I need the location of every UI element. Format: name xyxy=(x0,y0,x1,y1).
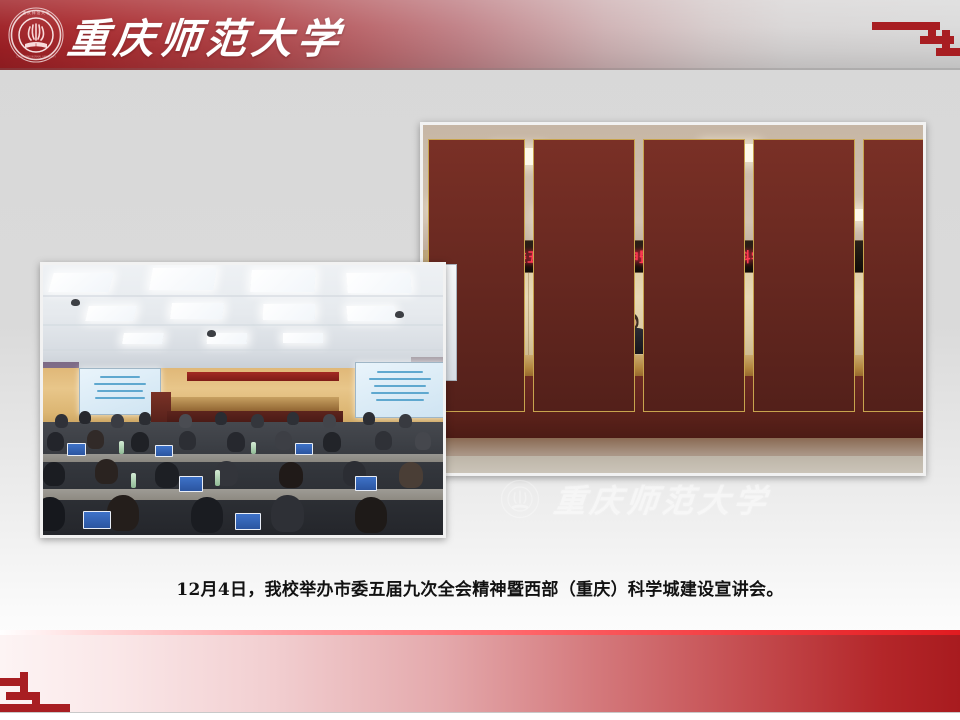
watermark: 重庆师范大学 xyxy=(500,472,800,526)
laptop-screen xyxy=(295,443,313,455)
attendee-head xyxy=(43,497,65,531)
ceiling-camera-icon xyxy=(71,299,80,306)
attendee-head xyxy=(399,462,423,488)
header-bar: 重 庆 师 范 大 学 CHONGQING NORMAL UNIVERSITY … xyxy=(0,0,960,70)
header-baseline xyxy=(0,68,960,70)
ceiling-light-panel xyxy=(283,333,323,344)
desk-panel xyxy=(533,139,635,412)
water-bottle xyxy=(119,441,124,454)
desk-panel xyxy=(753,139,855,412)
desk-panel xyxy=(863,139,923,412)
attendee-head xyxy=(155,462,179,488)
attendee-head xyxy=(375,431,392,450)
svg-text:CHONGQING NORMAL UNIVERSITY: CHONGQING NORMAL UNIVERSITY xyxy=(16,56,56,59)
projection-screen-left xyxy=(79,368,161,416)
photo-audience-content xyxy=(43,265,443,535)
ceiling-light-panel xyxy=(263,304,316,320)
ceiling-camera-icon xyxy=(207,330,216,337)
watermark-seal-icon xyxy=(500,479,540,519)
attendee-head xyxy=(191,497,223,533)
ceiling-light-panel xyxy=(85,306,136,321)
ceiling-light-panel xyxy=(48,273,113,292)
attendee-head xyxy=(399,414,412,428)
footer-accent-line xyxy=(0,630,960,635)
ceiling-camera-icon xyxy=(395,311,404,318)
top-right-bracket-ornament-icon xyxy=(842,0,960,60)
laptop-screen xyxy=(355,476,377,491)
attendee-head xyxy=(227,432,245,452)
photo-stage-content: 市委五届九次全会精神暨西部（重庆）科学城建设宣讲会 xyxy=(423,125,923,473)
ceiling-beam xyxy=(43,324,443,326)
attendee-head xyxy=(355,497,387,533)
attendee-head xyxy=(363,412,375,425)
ceiling-light-panel xyxy=(170,303,224,319)
attendee-head xyxy=(287,412,299,425)
svg-text:重 庆 师 范 大 学: 重 庆 师 范 大 学 xyxy=(22,10,50,15)
ceiling-light-panel xyxy=(250,270,316,292)
university-seal-icon: 重 庆 师 范 大 学 CHONGQING NORMAL UNIVERSITY xyxy=(8,7,64,63)
bottom-left-bracket-ornament-icon xyxy=(0,650,118,712)
photo-stage[interactable]: 市委五届九次全会精神暨西部（重庆）科学城建设宣讲会 xyxy=(420,122,926,476)
stage-banner xyxy=(187,372,339,382)
attendee-head xyxy=(87,430,104,449)
attendee-head xyxy=(107,495,139,531)
footer-base xyxy=(0,713,960,720)
ceiling-beam xyxy=(43,295,443,297)
attendee-head xyxy=(111,414,124,428)
attendee-head xyxy=(95,459,118,484)
wall-seam xyxy=(528,271,529,358)
slide-root: 重 庆 师 范 大 学 CHONGQING NORMAL UNIVERSITY … xyxy=(0,0,960,720)
photo-audience[interactable] xyxy=(40,262,446,538)
ceiling-beam xyxy=(43,349,443,351)
laptop-screen xyxy=(179,476,203,492)
university-name-text: 重庆师范大学 xyxy=(65,5,347,65)
laptop-screen xyxy=(67,443,86,456)
university-wordmark: 重庆师范大学 xyxy=(68,6,344,64)
caption-text: 12月4日，我校举办市委五届九次全会精神暨西部（重庆）科学城建设宣讲会。 xyxy=(176,580,783,600)
attendee-head xyxy=(139,412,151,425)
attendee-head xyxy=(179,431,196,450)
attendee-head xyxy=(323,414,336,428)
attendee-head xyxy=(215,412,227,425)
attendee-head xyxy=(131,432,149,452)
water-bottle xyxy=(215,470,220,486)
attendee-head xyxy=(251,414,264,428)
ceiling-light-panel xyxy=(346,306,395,321)
attendee-head xyxy=(179,414,192,428)
attendee-head xyxy=(271,495,304,532)
laptop-screen xyxy=(235,513,261,530)
stage-carpet xyxy=(423,456,923,473)
ceiling-light-panel xyxy=(122,333,164,344)
laptop-screen xyxy=(155,445,173,457)
laptop-screen xyxy=(83,511,111,529)
attendee-head xyxy=(275,431,292,450)
attendee-head xyxy=(43,462,65,486)
footer-band xyxy=(0,630,960,713)
watermark-text: 重庆师范大学 xyxy=(552,476,773,522)
caption: 12月4日，我校举办市委五届九次全会精神暨西部（重庆）科学城建设宣讲会。 xyxy=(0,575,960,600)
ceiling-light-panel xyxy=(149,268,217,290)
water-bottle xyxy=(251,442,256,454)
attendee-head xyxy=(323,432,341,452)
desk-panel xyxy=(643,139,745,412)
attendee-head xyxy=(279,462,303,488)
attendee-desk xyxy=(43,489,443,500)
attendee-head xyxy=(79,411,91,424)
attendee-head xyxy=(55,414,68,428)
projection-screen-right xyxy=(355,362,443,418)
ceiling-light-panel xyxy=(346,273,411,293)
attendee-head xyxy=(47,432,64,451)
water-bottle xyxy=(131,473,136,488)
attendee-head xyxy=(415,432,431,450)
